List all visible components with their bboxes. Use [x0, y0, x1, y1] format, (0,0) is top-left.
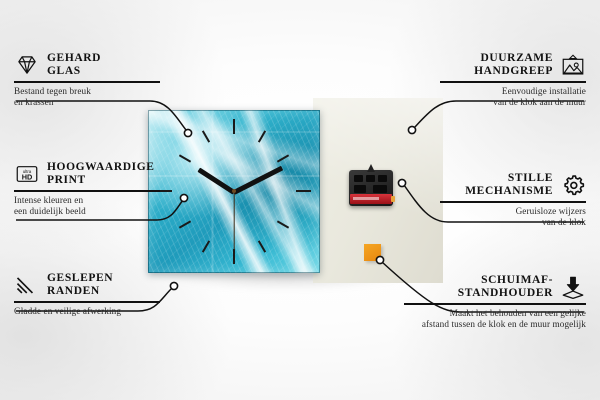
feature-divider: [440, 81, 586, 83]
feature-title-line2: PRINT: [47, 174, 155, 187]
feature-title-line2: RANDEN: [47, 285, 113, 298]
feature-title-line1: HOOGWAARDIGE: [47, 161, 155, 174]
feature-divider: [440, 201, 586, 203]
press-pad-icon: [560, 274, 586, 300]
feature-subtitle-line2: afstand tussen de klok en de muur mogeli…: [404, 319, 586, 330]
feature-title-line2: MECHANISME: [465, 185, 553, 198]
movement-slot: [354, 175, 363, 182]
foam-spacer: [364, 244, 381, 261]
picture-frame-icon: [560, 52, 586, 78]
feature-title-line1: STILLE: [465, 172, 553, 185]
svg-text:HD: HD: [22, 173, 33, 182]
feature-title-line1: GEHARD: [47, 52, 101, 65]
feature-subtitle-line1: Bestand tegen breuk: [14, 86, 160, 97]
feature-subtitle-line1: Intense kleuren en: [14, 195, 160, 206]
feature-duurzame-handgreep[interactable]: DUURZAME HANDGREEP Eenvoudige installati…: [440, 52, 586, 108]
feature-subtitle-line2: van de klok aan de muur: [440, 97, 586, 108]
feature-divider: [14, 301, 160, 303]
feature-hoogwaardige-print[interactable]: ultra HD HOOGWAARDIGE PRINT Intense kleu…: [14, 161, 160, 217]
feature-divider: [404, 303, 586, 305]
feature-stille-mechanisme[interactable]: STILLE MECHANISME Geruisloze wijzers van…: [440, 172, 586, 228]
feature-geslepen-randen[interactable]: GESLEPEN RANDEN Gladde en veilige afwerk…: [14, 272, 160, 317]
feature-header: ultra HD HOOGWAARDIGE PRINT: [14, 161, 160, 187]
diamond-icon: [14, 52, 40, 78]
clock-glass-edge: [148, 110, 320, 273]
wall-clock-product: [148, 110, 320, 273]
feature-header: SCHUIMAF- STANDHOUDER: [404, 274, 586, 300]
feature-title-line2: HANDGREEP: [474, 65, 553, 78]
feature-subtitle-line1: Geruisloze wijzers: [440, 206, 586, 217]
feature-divider: [14, 190, 160, 192]
feature-gehard-glas[interactable]: GEHARD GLAS Bestand tegen breuk en krass…: [14, 52, 160, 108]
movement-slot: [354, 185, 366, 193]
battery: [350, 194, 392, 204]
feature-title-line2: STANDHOUDER: [404, 287, 553, 300]
feature-divider: [14, 81, 160, 83]
feature-header: GESLEPEN RANDEN: [14, 272, 160, 298]
feature-subtitle-line1: Gladde en veilige afwerking: [14, 306, 160, 317]
feature-title-line2: GLAS: [47, 65, 101, 78]
movement-slot: [366, 175, 375, 182]
movement-slot: [378, 175, 387, 182]
feature-title-line1: SCHUIMAF-: [404, 274, 553, 287]
feature-title-line1: DUURZAME: [474, 52, 553, 65]
feature-subtitle-line1: Maakt het behouden van een gelijke: [404, 308, 586, 319]
movement-slot: [373, 185, 387, 193]
battery-positive-cap: [391, 196, 395, 202]
feature-subtitle-line1: Eenvoudige installatie: [440, 86, 586, 97]
feature-title-line1: GESLEPEN: [47, 272, 113, 285]
ultra-hd-icon: ultra HD: [14, 161, 40, 187]
feature-header: DUURZAME HANDGREEP: [440, 52, 586, 78]
feature-schuimafstandhouder[interactable]: SCHUIMAF- STANDHOUDER Maakt het behouden…: [404, 274, 586, 330]
feature-header: STILLE MECHANISME: [440, 172, 586, 198]
feature-header: GEHARD GLAS: [14, 52, 160, 78]
feature-subtitle-line2: van de klok: [440, 217, 586, 228]
infographic-canvas: GEHARD GLAS Bestand tegen breuk en krass…: [0, 0, 600, 400]
feature-subtitle-line2: een duidelijk beeld: [14, 206, 160, 217]
battery-label-strip: [353, 197, 379, 200]
gear-icon: [560, 172, 586, 198]
feature-subtitle-line2: en krassen: [14, 97, 160, 108]
beveled-edges-icon: [14, 272, 40, 298]
